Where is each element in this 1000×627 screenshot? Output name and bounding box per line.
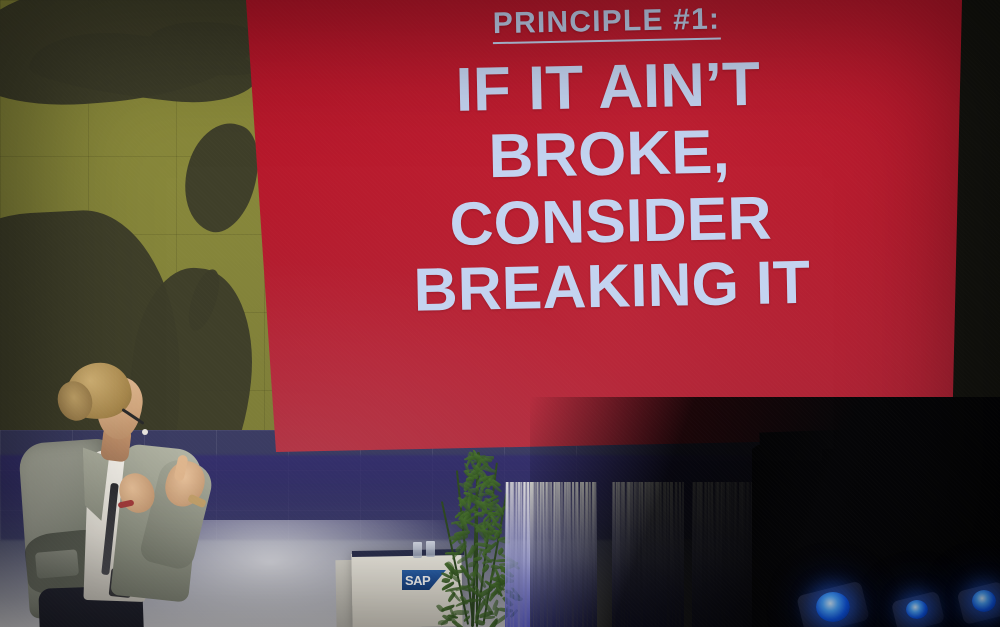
plant-leaf [478, 493, 489, 496]
plant-leaf [451, 619, 464, 627]
light-rod [507, 482, 510, 627]
light-rod [520, 482, 523, 627]
slide-line-3: CONSIDER [254, 184, 967, 258]
light-rod [508, 482, 511, 627]
light-rod [511, 482, 513, 627]
light-rod [505, 482, 508, 627]
slide-line-4: BREAKING IT [255, 250, 968, 324]
slide-line-1: IF IT AIN’T [251, 51, 964, 126]
slide-title: PRINCIPLE #1: [493, 5, 721, 45]
speaker-jacket-pocket [35, 549, 79, 579]
sap-logo-text: SAP [402, 573, 430, 588]
light-rod [518, 482, 521, 627]
stage-light-lens-1 [816, 592, 850, 622]
light-rod [512, 482, 515, 627]
speaker-figure [10, 355, 240, 627]
stage-light-lens-3 [972, 590, 996, 612]
slide-line-2: BROKE, [253, 117, 966, 192]
stage-light-lens-2 [906, 600, 928, 619]
plant-leaf [438, 620, 448, 626]
water-glass-1 [413, 542, 422, 558]
plant-leaf [484, 616, 495, 619]
slide-content: PRINCIPLE #1: IF IT AIN’T BROKE, CONSIDE… [250, 0, 971, 452]
light-rod [527, 482, 529, 627]
light-rod [516, 482, 520, 627]
headset-microphone-capsule [142, 429, 148, 435]
light-rod [525, 482, 528, 627]
light-rod [523, 482, 525, 627]
plant-leaf [436, 604, 445, 614]
conference-stage-photo: PRINCIPLE #1: IF IT AIN’T BROKE, CONSIDE… [0, 0, 1000, 627]
light-rod [515, 482, 518, 627]
